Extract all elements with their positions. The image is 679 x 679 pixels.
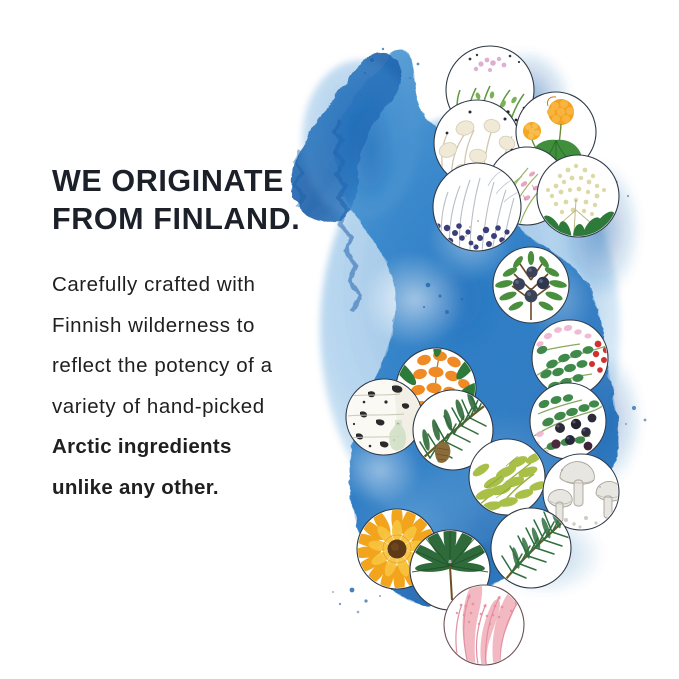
finland-watercolor-map	[0, 0, 679, 679]
ingredient-circle-juniper	[493, 247, 569, 323]
poster-canvas: WE ORIGINATE FROM FINLAND. Carefully cra…	[0, 0, 679, 679]
ingredient-circle-birch-bark	[346, 379, 422, 455]
